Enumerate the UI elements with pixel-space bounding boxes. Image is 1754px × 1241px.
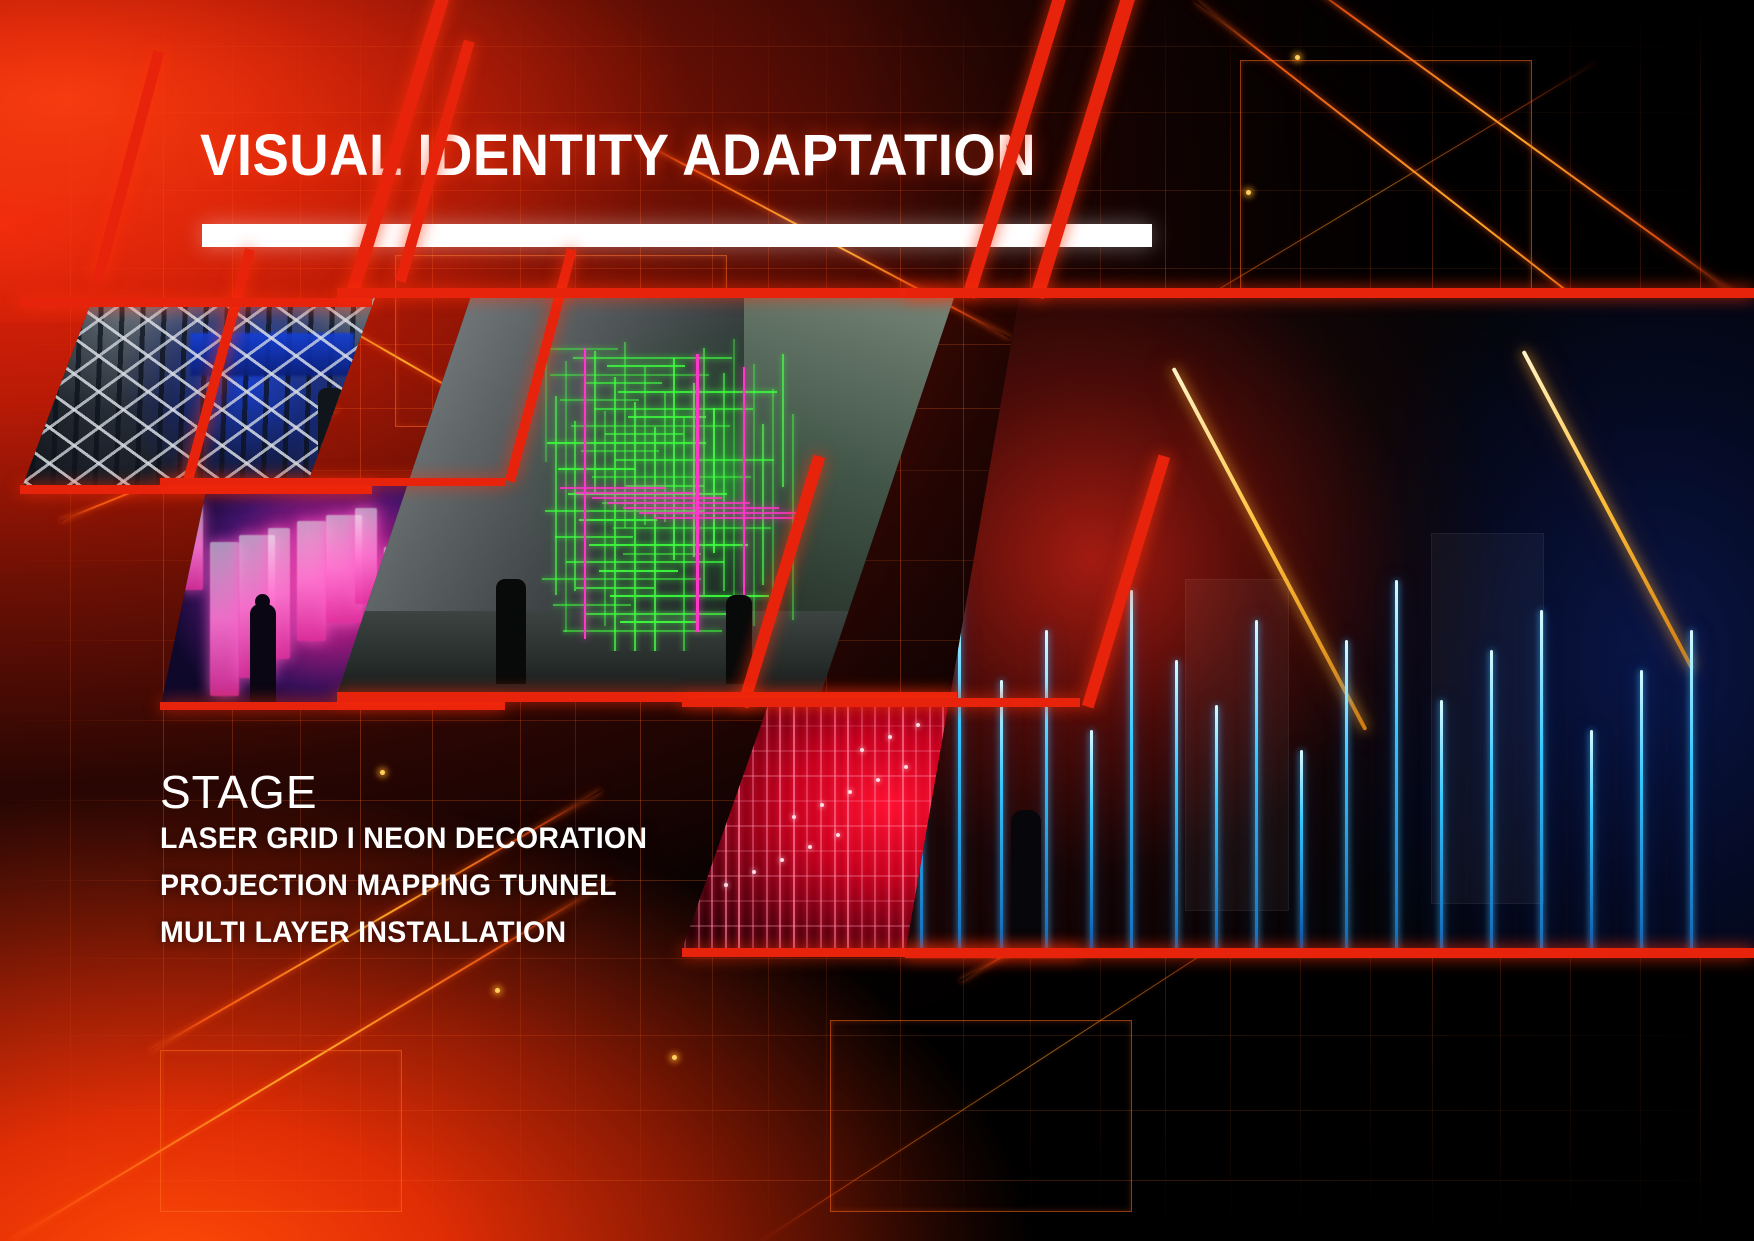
- footer-line-2: PROJECTION MAPPING TUNNEL: [160, 869, 617, 903]
- slide-canvas: VISUAL IDENTITY ADAPTATION: [0, 0, 1754, 1241]
- photo-green-laser-grid-bunker: [335, 295, 955, 700]
- photo-collage: [0, 280, 1754, 970]
- photo-amber-blue-led-tube-hall: [905, 295, 1754, 955]
- page-title: VISUAL IDENTITY ADAPTATION: [200, 122, 1036, 189]
- footer-line-3: MULTI LAYER INSTALLATION: [160, 916, 566, 950]
- footer-line-1: LASER GRID I NEON DECORATION: [160, 822, 647, 856]
- footer-heading: STAGE: [160, 765, 318, 819]
- title-underline-bar: [202, 224, 1152, 247]
